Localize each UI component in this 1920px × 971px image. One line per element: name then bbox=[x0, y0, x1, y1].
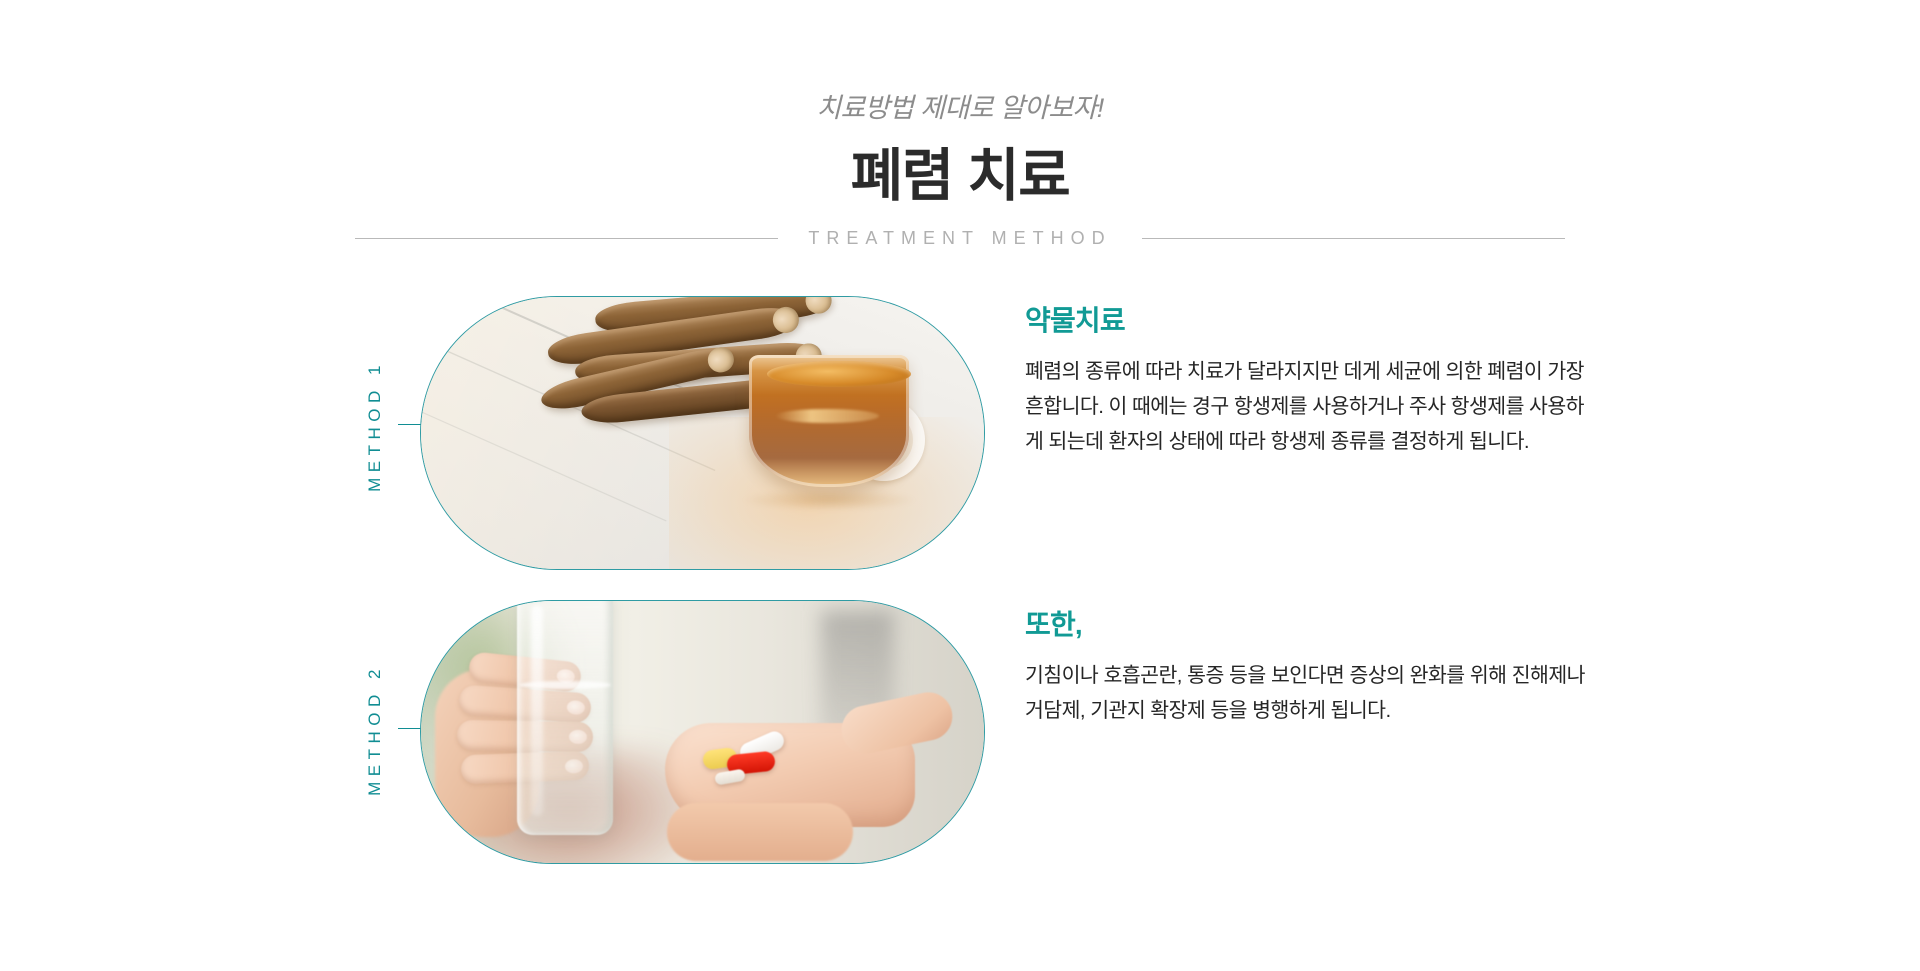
section-divider: TREATMENT METHOD bbox=[355, 228, 1565, 249]
divider-label: TREATMENT METHOD bbox=[804, 228, 1115, 249]
water-line bbox=[519, 681, 611, 689]
divider-rule-right bbox=[1142, 238, 1565, 239]
method-1-heading: 약물치료 bbox=[1025, 304, 1585, 338]
method-1-photo bbox=[420, 296, 985, 570]
glass-teacup bbox=[739, 355, 927, 507]
tea-shine bbox=[775, 409, 879, 423]
page-header: 치료방법 제대로 알아보자! 폐렴 치료 bbox=[0, 0, 1920, 210]
method-2-photo bbox=[420, 600, 985, 864]
method-2-label-text: METHOD 2 bbox=[365, 664, 385, 796]
water-glass bbox=[517, 600, 613, 835]
method-2-heading: 또한, bbox=[1025, 608, 1585, 642]
method-2-text: 또한, 기침이나 호흡곤란, 통증 등을 보인다면 증상의 완화를 위해 진해제… bbox=[1025, 608, 1585, 728]
burdock-tea-image bbox=[421, 297, 984, 569]
hand-pills-image bbox=[421, 601, 984, 863]
method-1-label: METHOD 1 bbox=[355, 326, 395, 526]
page-title: 폐렴 치료 bbox=[0, 144, 1920, 210]
method-1-text: 약물치료 폐렴의 종류에 따라 치료가 달라지지만 데게 세균에 의한 폐렴이 … bbox=[1025, 304, 1585, 459]
method-1-label-text: METHOD 1 bbox=[365, 360, 385, 492]
right-hand bbox=[665, 705, 955, 855]
cup-body bbox=[749, 355, 909, 487]
divider-rule-left bbox=[355, 238, 778, 239]
curled-fingers bbox=[667, 803, 853, 861]
method-2-label: METHOD 2 bbox=[355, 630, 395, 830]
treatment-method-page: 치료방법 제대로 알아보자! 폐렴 치료 TREATMENT METHOD ME… bbox=[0, 0, 1920, 971]
cup-shadow bbox=[741, 489, 917, 511]
tea-surface bbox=[767, 361, 911, 387]
method-1-body: 폐렴의 종류에 따라 치료가 달라지지만 데게 세균에 의한 폐렴이 가장 흔합… bbox=[1025, 354, 1585, 460]
method-2-body: 기침이나 호흡곤란, 통증 등을 보인다면 증상의 완화를 위해 진해제나 거담… bbox=[1025, 658, 1585, 729]
page-eyebrow: 치료방법 제대로 알아보자! bbox=[0, 92, 1920, 124]
